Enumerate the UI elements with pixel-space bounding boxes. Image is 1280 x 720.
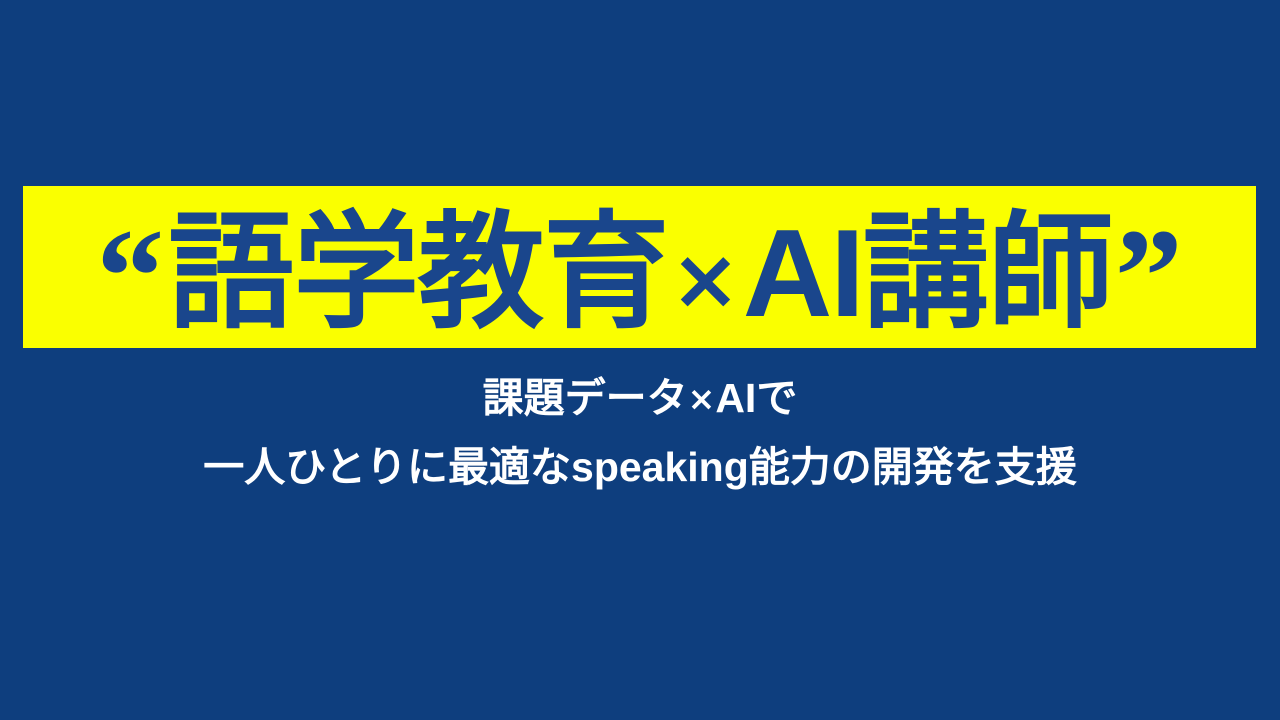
subtitle-line-2: 一人ひとりに最適なspeaking能力の開発を支援 bbox=[0, 447, 1280, 488]
title-segment-japanese-2: 講師 bbox=[863, 210, 1113, 336]
subtitle-line-2-part-c: 能力の開発を支援 bbox=[749, 443, 1077, 491]
title-segment-latin: AI bbox=[743, 212, 863, 336]
title-segment-japanese-1: 語学教育 bbox=[168, 210, 668, 336]
title-banner: “ 語学教育 × AI 講師 ” bbox=[23, 186, 1256, 348]
subtitle-line-1-part-c: で bbox=[756, 374, 797, 422]
subtitle-line-2-part-b: speaking bbox=[571, 444, 749, 490]
subtitle-line-2-part-a: 一人ひとりに最適な bbox=[203, 443, 571, 491]
subtitle-line-1: 課題データ×AIで bbox=[0, 378, 1280, 419]
title-multiply-icon: × bbox=[670, 237, 740, 321]
subtitle-line-1-part-a: 課題データ bbox=[483, 374, 688, 422]
open-quote-icon: “ bbox=[96, 209, 164, 345]
title-line: “ 語学教育 × AI 講師 ” bbox=[96, 203, 1182, 339]
subtitle-line-1-part-b: AI bbox=[715, 375, 756, 421]
subtitle-line-1-multiply-icon: × bbox=[688, 379, 716, 418]
slide-root: “ 語学教育 × AI 講師 ” 課題データ×AIで 一人ひとりに最適なspea… bbox=[0, 0, 1280, 720]
subtitle-block: 課題データ×AIで 一人ひとりに最適なspeaking能力の開発を支援 bbox=[0, 378, 1280, 488]
close-quote-icon: ” bbox=[1115, 209, 1183, 345]
